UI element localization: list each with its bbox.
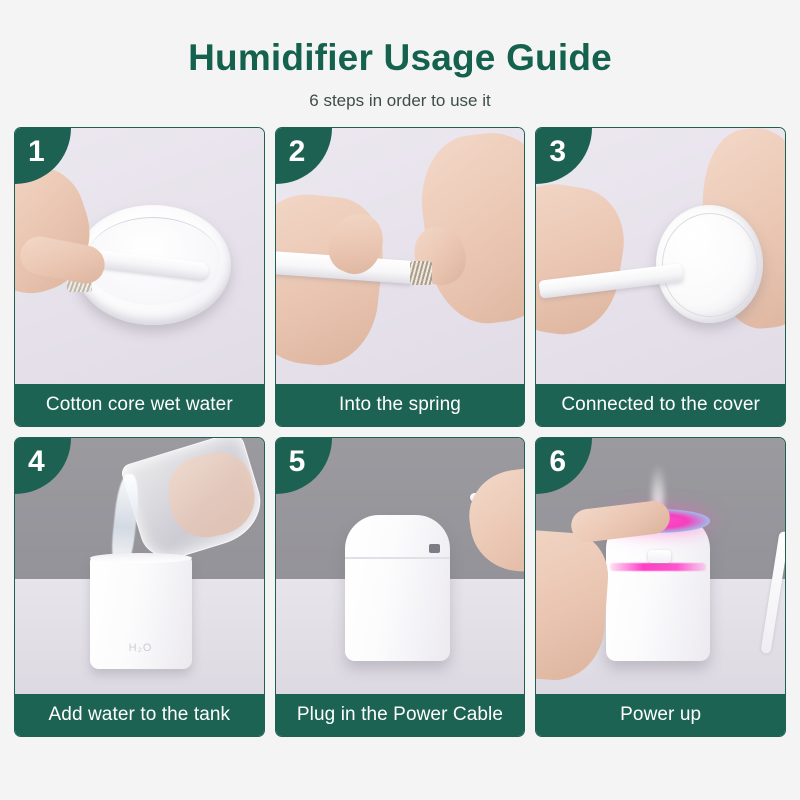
step-card-5[interactable]: 5 Plug in the Power Cable <box>275 437 526 737</box>
header: Humidifier Usage Guide 6 steps in order … <box>14 0 786 110</box>
step-caption-2: Into the spring <box>276 384 525 426</box>
step-photo-1: 1 <box>15 128 264 384</box>
step-card-2[interactable]: 2 Into the spring <box>275 127 526 427</box>
step-caption-3: Connected to the cover <box>536 384 785 426</box>
step-caption-1: Cotton core wet water <box>15 384 264 426</box>
power-port <box>429 544 440 553</box>
page-subtitle: 6 steps in order to use it <box>14 92 786 111</box>
humidifier <box>345 515 449 661</box>
step-number-6: 6 <box>549 447 566 477</box>
step-card-1[interactable]: 1 Cotton core wet water <box>14 127 265 427</box>
step-number-2: 2 <box>289 137 306 167</box>
step-card-6[interactable]: 6 Power up <box>535 437 786 737</box>
led-light-strip <box>610 563 706 570</box>
tank-opening <box>90 553 192 563</box>
step-photo-5: 5 <box>276 438 525 694</box>
step-photo-6: 6 <box>536 438 785 694</box>
humidifier-seam <box>345 557 449 559</box>
step-card-4[interactable]: H₂O 4 Add water to the tank <box>14 437 265 737</box>
step-number-1: 1 <box>28 137 45 167</box>
power-button[interactable] <box>648 550 671 563</box>
step-card-3[interactable]: 3 Connected to the cover <box>535 127 786 427</box>
water-tank: H₂O <box>90 556 192 669</box>
infographic-page: Humidifier Usage Guide 6 steps in order … <box>0 0 800 800</box>
step-caption-6: Power up <box>536 694 785 736</box>
step-photo-4: H₂O 4 <box>15 438 264 694</box>
steps-grid: 1 Cotton core wet water 2 Into the sprin… <box>14 127 786 737</box>
step-caption-4: Add water to the tank <box>15 694 264 736</box>
step-number-5: 5 <box>289 447 306 477</box>
spring-coil <box>410 261 432 284</box>
step-caption-5: Plug in the Power Cable <box>276 694 525 736</box>
step-photo-3: 3 <box>536 128 785 384</box>
page-title: Humidifier Usage Guide <box>14 38 786 79</box>
step-number-3: 3 <box>549 137 566 167</box>
tank-label: H₂O <box>90 642 192 654</box>
step-number-4: 4 <box>28 447 45 477</box>
step-photo-2: 2 <box>276 128 525 384</box>
